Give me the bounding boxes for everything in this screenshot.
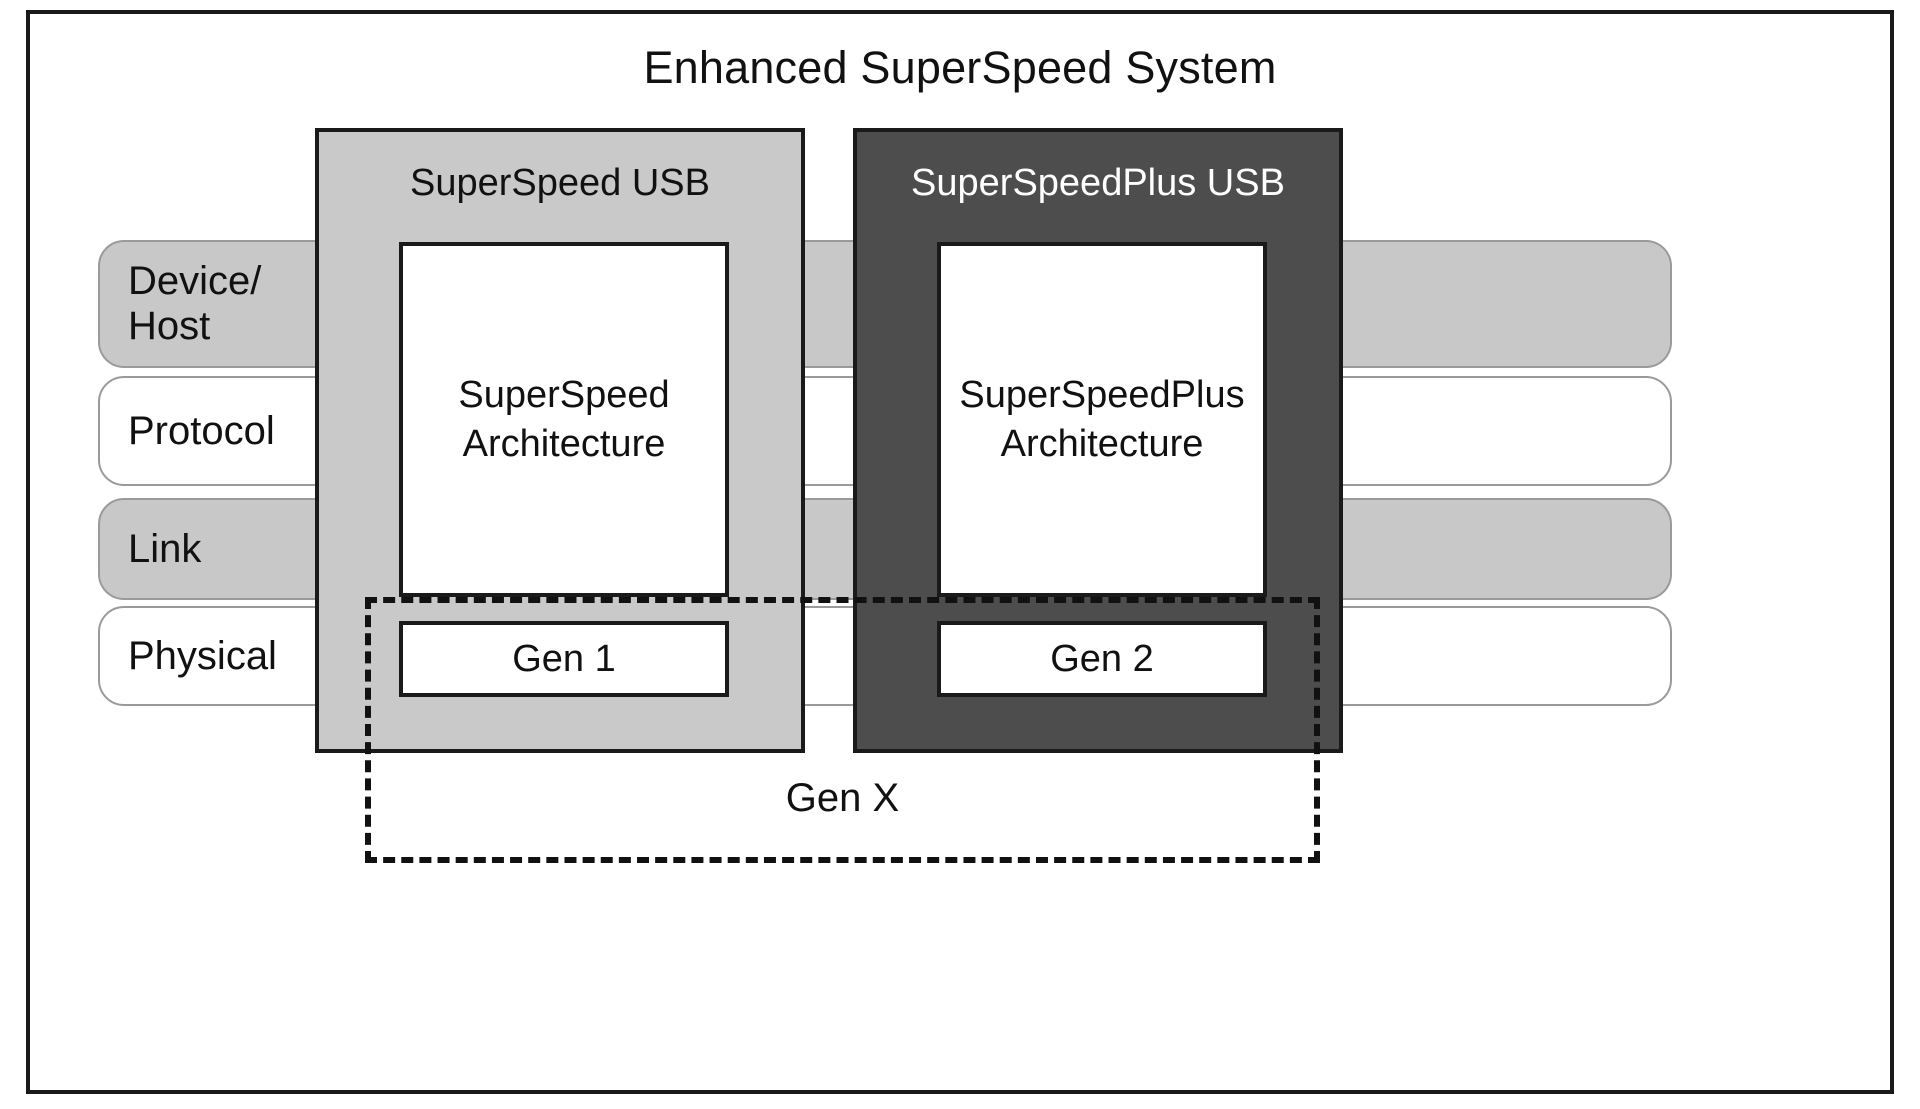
- page-title: Enhanced SuperSpeed System: [30, 42, 1890, 94]
- architecture-label-superspeed: SuperSpeed Architecture: [458, 371, 669, 468]
- architecture-box-superspeed: SuperSpeed Architecture: [399, 242, 729, 597]
- diagram-canvas: Enhanced SuperSpeed System Device/ Host …: [0, 0, 1920, 1109]
- genx-label: Gen X: [365, 776, 1320, 821]
- system-boundary-frame: Enhanced SuperSpeed System Device/ Host …: [26, 10, 1894, 1094]
- gen-label-gen-1: Gen 1: [512, 638, 616, 681]
- panel-title-superspeed-usb: SuperSpeed USB: [319, 162, 801, 205]
- gen-box-gen-2: Gen 2: [937, 621, 1267, 697]
- layer-label-protocol: Protocol: [100, 409, 275, 454]
- gen-box-gen-1: Gen 1: [399, 621, 729, 697]
- panel-superspeedplus-usb: SuperSpeedPlus USB SuperSpeedPlus Archit…: [853, 128, 1343, 753]
- gen-label-gen-2: Gen 2: [1050, 638, 1154, 681]
- architecture-box-superspeedplus: SuperSpeedPlus Architecture: [937, 242, 1267, 597]
- panel-title-superspeedplus-usb: SuperSpeedPlus USB: [857, 162, 1339, 205]
- panel-superspeed-usb: SuperSpeed USB SuperSpeed Architecture G…: [315, 128, 805, 753]
- layer-label-physical: Physical: [100, 634, 277, 679]
- layer-label-link: Link: [100, 527, 201, 572]
- architecture-label-superspeedplus: SuperSpeedPlus Architecture: [959, 371, 1244, 468]
- layer-label-device-host: Device/ Host: [100, 259, 261, 349]
